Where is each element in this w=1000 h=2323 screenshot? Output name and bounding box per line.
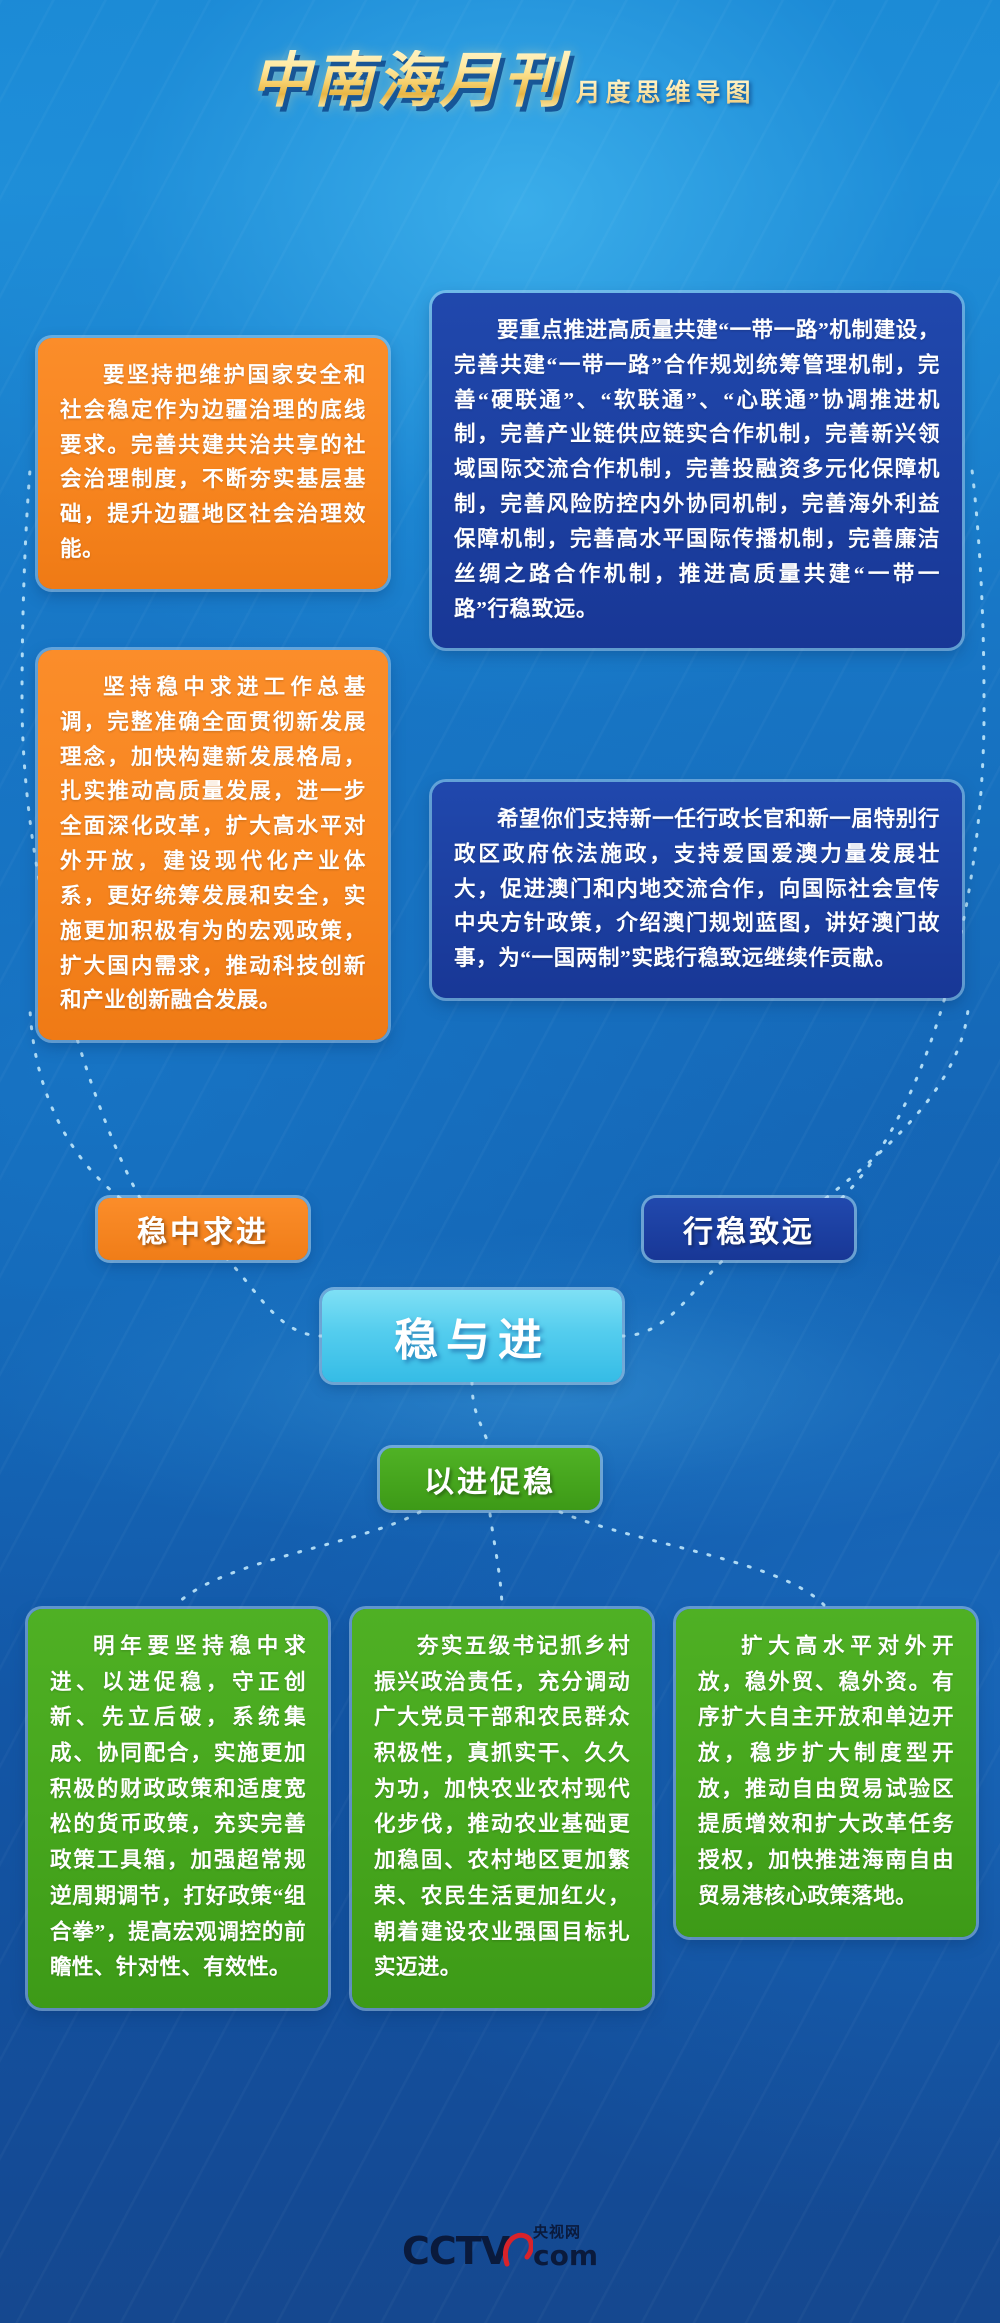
logo-arc-icon xyxy=(503,2230,533,2270)
node-label: 稳与进 xyxy=(394,1304,550,1368)
card-text: 坚持稳中求进工作总基调，完整准确全面贯彻新发展理念，加快构建新发展格局，扎实推动… xyxy=(60,670,366,1018)
card-text: 要坚持把维护国家安全和社会稳定作为边疆治理的底线要求。完善共建共治共享的社会治理… xyxy=(60,358,366,567)
card-text: 明年要坚持稳中求进、以进促稳，守正创新、先立后破，系统集成、协同配合，实施更加积… xyxy=(50,1629,306,1986)
node-center: 稳与进 xyxy=(322,1290,622,1382)
logo-cctv-text: CCTV xyxy=(402,2232,509,2270)
node-left-branch: 稳中求进 xyxy=(98,1198,308,1260)
card-text: 要重点推进高质量共建“一带一路”机制建设，完善共建“一带一路”合作规划统筹管理机… xyxy=(454,313,940,626)
node-right-branch: 行稳致远 xyxy=(644,1198,854,1260)
page-subtitle: 月度思维导图 xyxy=(575,73,755,109)
content-card-rural-revitalization: 夯实五级书记抓乡村振兴政治责任，充分调动广大党员干部和农民群众积极性，真抓实干、… xyxy=(352,1609,652,2008)
content-card-steady-progress: 坚持稳中求进工作总基调，完整准确全面贯彻新发展理念，加快构建新发展格局，扎实推动… xyxy=(38,650,388,1040)
logo-cn-text: 央视网 xyxy=(533,2225,581,2240)
footer: CCTV 央视网 com xyxy=(0,2225,1000,2270)
card-text: 扩大高水平对外开放，稳外贸、稳外资。有序扩大自主开放和单边开放，稳步扩大制度型开… xyxy=(698,1629,954,1915)
content-card-macao: 希望你们支持新一任行政长官和新一届特别行政区政府依法施政，支持爱国爱澳力量发展壮… xyxy=(432,782,962,998)
content-card-macro-policy: 明年要坚持稳中求进、以进促稳，守正创新、先立后破，系统集成、协同配合，实施更加积… xyxy=(28,1609,328,2008)
logo-com-text: com xyxy=(533,2242,598,2270)
card-text: 希望你们支持新一任行政长官和新一届特别行政区政府依法施政，支持爱国爱澳力量发展壮… xyxy=(454,802,940,976)
page-title: 中南海月刊 xyxy=(244,50,571,113)
content-card-belt-and-road: 要重点推进高质量共建“一带一路”机制建设，完善共建“一带一路”合作规划统筹管理机… xyxy=(432,293,962,648)
logo-right-block: 央视网 com xyxy=(533,2225,598,2270)
node-label: 稳中求进 xyxy=(137,1207,269,1251)
content-card-opening-up: 扩大高水平对外开放，稳外贸、稳外资。有序扩大自主开放和单边开放，稳步扩大制度型开… xyxy=(676,1609,976,1937)
infographic-page: 中南海月刊 月度思维导图 要坚持把维护国家安全和社会稳定作为边疆治理的底线要求。… xyxy=(0,0,1000,2323)
header: 中南海月刊 月度思维导图 xyxy=(0,50,1000,113)
node-label: 行稳致远 xyxy=(683,1207,815,1251)
card-text: 夯实五级书记抓乡村振兴政治责任，充分调动广大党员干部和农民群众积极性，真抓实干、… xyxy=(374,1629,630,1986)
content-card-border-governance: 要坚持把维护国家安全和社会稳定作为边疆治理的底线要求。完善共建共治共享的社会治理… xyxy=(38,338,388,589)
node-bottom-branch: 以进促稳 xyxy=(380,1448,600,1510)
cctv-logo: CCTV 央视网 com xyxy=(402,2225,598,2270)
node-label: 以进促稳 xyxy=(424,1457,556,1501)
